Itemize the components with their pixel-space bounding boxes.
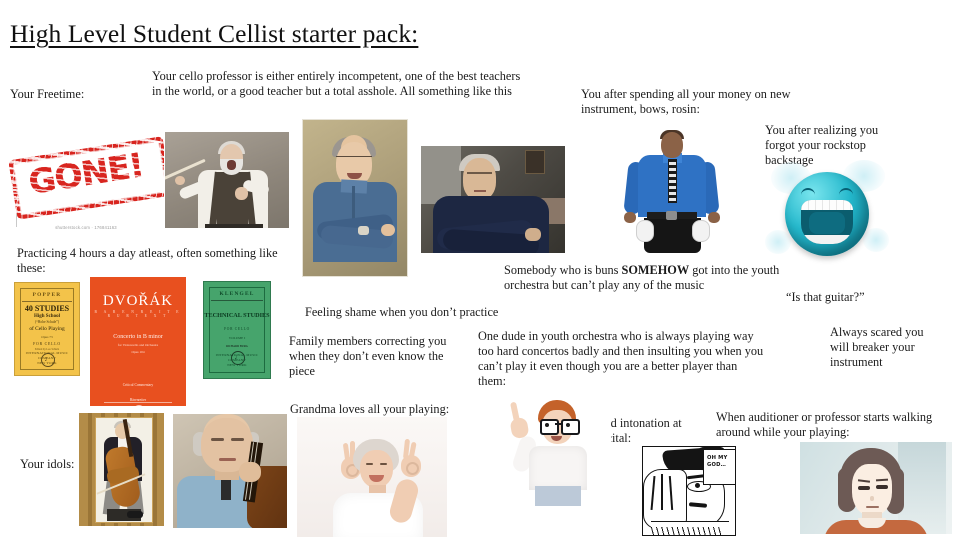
emoji-eye-left bbox=[801, 188, 815, 198]
caption-professor: Your cello professor is either entirely … bbox=[152, 69, 592, 99]
klengel-book-cover: KLENGEL TECHNICAL STUDIES FOR CELLO VOLU… bbox=[203, 281, 271, 379]
caption-money-spent: You after spending all your money on new… bbox=[581, 87, 821, 117]
caption-auditioner: When auditioner or professor starts walk… bbox=[716, 410, 960, 440]
caption-somehow-emphasis: SOMEHOW bbox=[622, 263, 690, 277]
glasses-lens-right bbox=[561, 419, 580, 435]
caption-one-dude: One dude in youth orchestra who is alway… bbox=[478, 329, 798, 389]
dvorak-commentary: Critical Commentary bbox=[90, 383, 186, 387]
caption-grandma: Grandma loves all your playing: bbox=[290, 402, 540, 417]
dvorak-instrumentation: for Violoncello and Orchestra bbox=[90, 343, 186, 347]
nerd-white-shirt bbox=[529, 446, 587, 490]
manga-facepalm-hand bbox=[643, 469, 687, 529]
klengel-instrument: FOR CELLO bbox=[204, 327, 270, 331]
empty-pocket-right bbox=[692, 220, 710, 242]
glasses-lens-left bbox=[540, 419, 559, 435]
cellist-closeup-photo bbox=[173, 414, 287, 528]
popper-composer: POPPER bbox=[22, 290, 72, 302]
anime-eye-right bbox=[876, 485, 888, 489]
manga-finger-1 bbox=[651, 476, 656, 510]
glasses-bridge bbox=[555, 423, 561, 425]
popper-sub2: (“Hohe Schule”) bbox=[15, 320, 79, 324]
stern-professor-photo bbox=[421, 146, 565, 253]
emoji-tongue bbox=[809, 212, 845, 234]
grandma-ok-hand-right bbox=[401, 455, 421, 477]
popper-sub3: of Cello Playing bbox=[15, 326, 79, 332]
emoji-lower-teeth bbox=[801, 235, 853, 244]
conductor-trousers bbox=[205, 224, 263, 228]
starter-pack-canvas: High Level Student Cellist starter pack:… bbox=[0, 0, 960, 540]
grandma-eye-right bbox=[380, 463, 387, 465]
caption-somehow-pre: Somebody who is buns bbox=[504, 263, 622, 277]
professor-watch bbox=[358, 226, 369, 235]
tear-splash-left bbox=[765, 230, 791, 254]
nerd-eye-right bbox=[566, 423, 570, 427]
manga-speech-text: OH MY GOD… bbox=[707, 455, 736, 469]
klengel-title: TECHNICAL STUDIES bbox=[204, 312, 270, 319]
cellist2-eye-right bbox=[231, 438, 244, 441]
caption-is-that-guitar: “Is that guitar?” bbox=[786, 290, 946, 305]
caption-practicing: Practicing 4 hours a day atleast, often … bbox=[17, 246, 307, 276]
nerd-glasses-icon bbox=[540, 419, 576, 431]
stern-hand bbox=[525, 228, 541, 241]
conductor-mouth bbox=[227, 160, 236, 170]
conductor-right-hand bbox=[235, 187, 248, 200]
anime-eye-left bbox=[858, 486, 870, 490]
popper-publisher: INTERNATIONAL MUSIC COMPANY NEW YORK bbox=[23, 351, 71, 366]
background-frame bbox=[525, 150, 545, 174]
popper-instrument: FOR CELLO bbox=[15, 342, 79, 346]
dvorak-rule bbox=[104, 402, 172, 403]
dvorak-publisher: Bärenreiter bbox=[90, 398, 186, 402]
nerd-jeans bbox=[535, 486, 581, 506]
popper-title: 40 STUDIES bbox=[15, 304, 79, 313]
crying-emoji-image bbox=[765, 158, 889, 270]
broke-necktie bbox=[668, 159, 677, 203]
caption-feeling-shame: Feeling shame when you don’t practice bbox=[305, 305, 565, 320]
cellist-shoe bbox=[127, 511, 143, 518]
manga-pupil bbox=[695, 483, 700, 488]
cellist-on-stage-photo bbox=[79, 413, 164, 526]
manga-screentone bbox=[651, 527, 721, 536]
stock-watermark: shutterstock.com · 176841163 bbox=[8, 225, 164, 230]
popper-sub1: High School bbox=[15, 314, 79, 319]
emoji-upper-teeth bbox=[801, 200, 853, 210]
popper-book-cover: POPPER 40 STUDIES High School (“Hohe Sch… bbox=[14, 282, 80, 376]
emoji-open-mouth bbox=[801, 200, 853, 244]
grandma-eye-left bbox=[366, 463, 373, 465]
broke-left-hand bbox=[624, 212, 636, 223]
manga-panel-image: OH MY GOD… bbox=[642, 446, 736, 536]
anime-mouth bbox=[866, 506, 879, 508]
nerd-eye-left bbox=[545, 423, 549, 427]
klengel-editor: RICHARD BURG bbox=[204, 344, 270, 348]
professor-glasses bbox=[336, 156, 372, 164]
stern-brow bbox=[467, 172, 492, 174]
dvorak-seal-icon bbox=[133, 405, 145, 406]
smiling-professor-photo bbox=[302, 119, 408, 277]
tear-splash-right bbox=[863, 228, 889, 252]
conductor-left-hand bbox=[175, 176, 185, 185]
cellist2-mouth bbox=[219, 458, 236, 461]
anime-face bbox=[852, 464, 892, 516]
pointing-nerd-photo bbox=[505, 396, 611, 510]
gone-stamp-image: GONE! shutterstock.com · 176841163 bbox=[8, 128, 164, 232]
caption-bad-intonation: Bad intonation at recital: bbox=[597, 416, 702, 446]
grandma-face bbox=[360, 450, 393, 488]
manga-finger-2 bbox=[661, 474, 663, 510]
angry-conductor-photo bbox=[165, 132, 289, 228]
anime-nose bbox=[870, 496, 874, 501]
dvorak-book-cover: DVOŘÁK B A R E N R E I T E R U R T E X T… bbox=[90, 277, 186, 406]
dvorak-edition: B A R E N R E I T E R U R T E X T bbox=[90, 310, 186, 318]
manga-speech-bubble: OH MY GOD… bbox=[703, 449, 736, 485]
caption-freetime: Your Freetime: bbox=[10, 87, 140, 102]
klengel-volume: VOLUME I bbox=[204, 336, 270, 340]
professor-hand bbox=[381, 224, 395, 236]
dvorak-composer: DVOŘÁK bbox=[90, 293, 186, 310]
stern-head bbox=[463, 158, 496, 200]
dvorak-opus: Opus 104 bbox=[90, 350, 186, 354]
stern-mouth bbox=[474, 190, 486, 192]
grandma-ok-sign-photo bbox=[297, 417, 447, 537]
emoji-eye-right bbox=[839, 188, 853, 198]
empty-pocket-left bbox=[636, 220, 654, 242]
caption-family-members: Family members correcting you when they … bbox=[289, 334, 479, 379]
caption-somehow: Somebody who is buns SOMEHOW got into th… bbox=[504, 263, 784, 293]
dvorak-title: Concerto in B minor bbox=[90, 334, 186, 340]
klengel-composer: KLENGEL bbox=[211, 289, 263, 301]
cellist2-eye-left bbox=[211, 438, 224, 441]
caption-scared-break: Always scared you will breaker your inst… bbox=[830, 325, 950, 370]
klengel-publisher: INTERNATIONAL MUSIC COMPANY NEW YORK bbox=[212, 353, 262, 368]
empty-pockets-photo bbox=[620, 126, 724, 254]
popper-opus: Opus 73 bbox=[15, 335, 79, 339]
page-title: High Level Student Cellist starter pack: bbox=[10, 19, 418, 49]
anime-man-image bbox=[800, 442, 952, 534]
broke-belt-buckle bbox=[666, 211, 677, 220]
manga-finger-3 bbox=[669, 476, 673, 510]
cellist2-hand bbox=[239, 462, 261, 482]
broke-right-hand bbox=[708, 212, 720, 223]
broke-head bbox=[661, 132, 683, 158]
conductor-vest bbox=[217, 172, 248, 228]
